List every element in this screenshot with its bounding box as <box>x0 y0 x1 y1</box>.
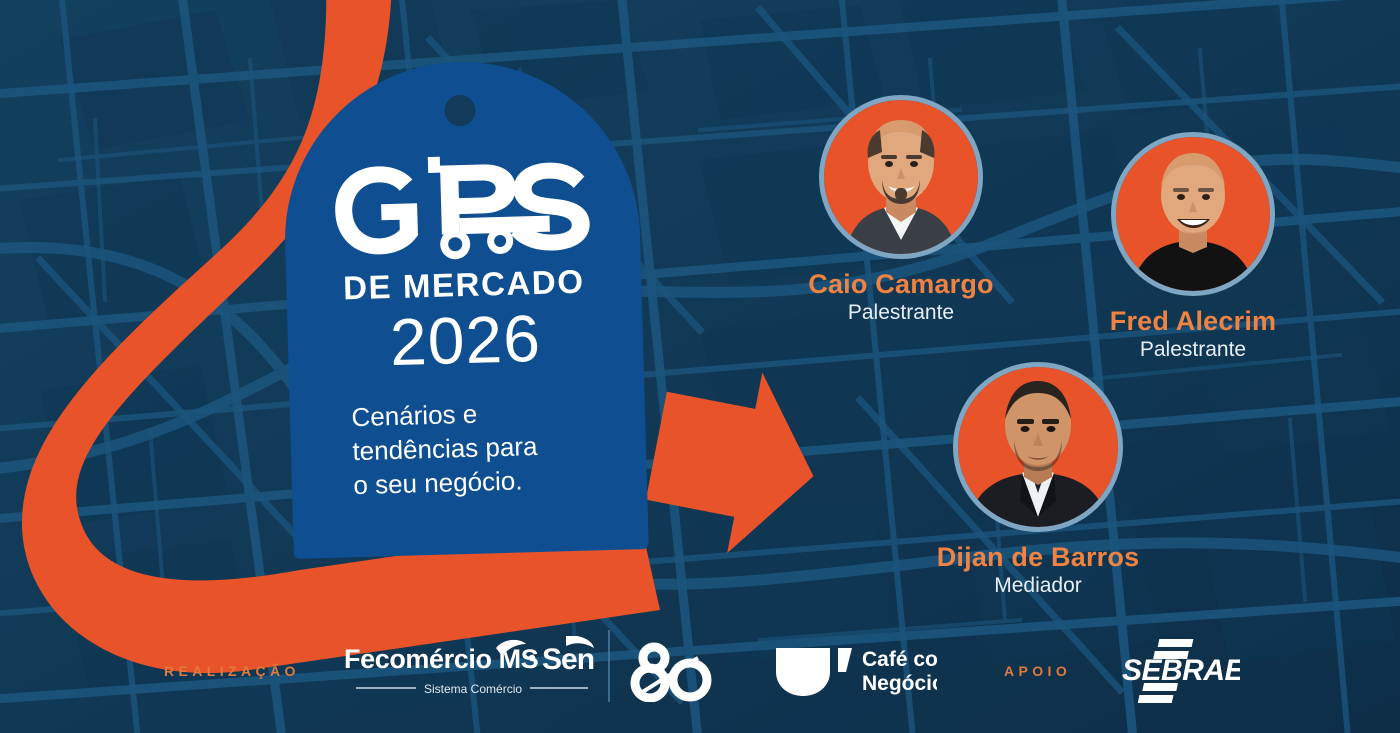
svg-text:Senac: Senac <box>542 643 594 676</box>
speaker-role: Palestrante <box>1140 338 1246 362</box>
logo-cafe-com-negocios: Café com Negócios <box>772 608 937 733</box>
cafe-line-2: Negócios <box>862 672 937 695</box>
apoio-kicker: APOIO <box>1004 608 1071 733</box>
speaker-name: Dijan de Barros <box>937 542 1140 573</box>
logo-fecomercio-senac: Fecomércio MS Senac Sistema Comércio <box>344 608 594 733</box>
realizacao-kicker: REALIZAÇÃO <box>164 608 300 733</box>
logo-80-anniversary <box>628 608 714 733</box>
speaker-role: Mediador <box>994 574 1082 598</box>
tag-year: 2026 <box>389 304 542 377</box>
speaker-card-dijan-de-barros: Dijan de Barros Mediador <box>893 362 1183 598</box>
avatar <box>1111 132 1275 296</box>
speaker-name: Caio Camargo <box>808 269 993 300</box>
tag-subtitle: DE MERCADO <box>343 263 585 308</box>
avatar <box>819 95 983 259</box>
sebrae-logo-icon: SEBRAE <box>1120 636 1240 706</box>
gps-cart-logo-icon <box>331 152 592 263</box>
svg-text:SEBRAE: SEBRAE <box>1122 654 1240 687</box>
cafe-line-1: Café com <box>862 648 937 671</box>
fecomercio-senac-logo-icon: Fecomércio MS Senac Sistema Comércio <box>344 636 594 706</box>
footer-divider <box>608 630 610 702</box>
avatar-ring <box>953 362 1123 532</box>
eighty-years-icon <box>628 640 714 702</box>
footer-logo-strip: REALIZAÇÃO Fecomércio MS Senac Sistema C… <box>0 608 1400 733</box>
logo-sebrae: SEBRAE <box>1120 608 1240 733</box>
speaker-role: Palestrante <box>848 301 954 325</box>
promo-banner: DE MERCADO 2026 Cenários e tendências pa… <box>0 0 1400 733</box>
price-tag-card: DE MERCADO 2026 Cenários e tendências pa… <box>280 57 649 559</box>
avatar-ring <box>819 95 983 259</box>
speaker-card-fred-alecrim: Fred Alecrim Palestrante <box>1048 132 1338 362</box>
tagline-line-3: o seu negócio. <box>353 462 586 503</box>
speaker-name: Fred Alecrim <box>1110 306 1276 337</box>
speaker-card-caio-camargo: Caio Camargo Palestrante <box>756 95 1046 325</box>
avatar-ring <box>1111 132 1275 296</box>
svg-text:Sistema Comércio: Sistema Comércio <box>424 682 522 696</box>
tag-tagline: Cenários e tendências para o seu negócio… <box>351 393 586 502</box>
avatar <box>953 362 1123 532</box>
coffee-cup-icon: Café com Negócios <box>772 638 937 704</box>
